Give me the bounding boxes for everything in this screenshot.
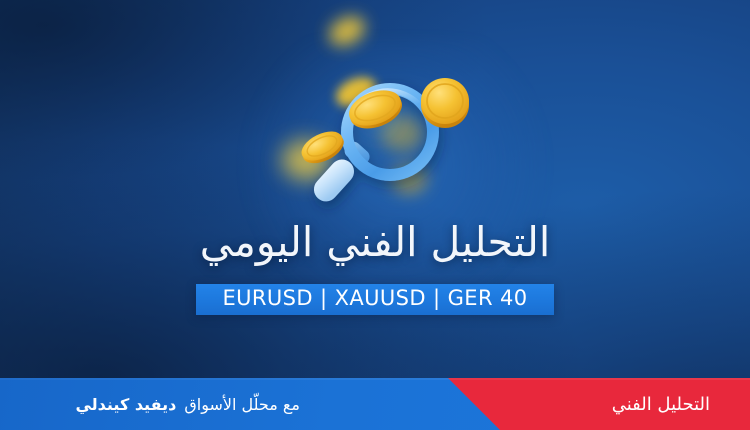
footer-bar: مع محلّل الأسواق ديفيد كيندلي التحليل ال… [0,378,750,430]
footer-category-group: التحليل الفني [612,378,710,430]
instruments-badge-wrap: EURUSD | XAUUSD | GER 40 [0,284,750,315]
footer-analyst-name: ديفيد كيندلي [75,395,176,414]
footer-analyst-group: مع محلّل الأسواق ديفيد كيندلي [0,378,300,430]
footer-category-label: التحليل الفني [612,394,710,415]
hero-graphic [0,0,750,430]
coin-top-blurred [324,11,370,52]
slide-canvas: التحليل الفني اليومي EURUSD | XAUUSD | G… [0,0,750,430]
magnifier-icon [0,0,750,430]
page-title: التحليل الفني اليومي [0,218,750,266]
coin-right-front [421,78,469,128]
footer-analyst-prefix: مع محلّل الأسواق [184,395,300,414]
instruments-badge: EURUSD | XAUUSD | GER 40 [196,284,553,315]
